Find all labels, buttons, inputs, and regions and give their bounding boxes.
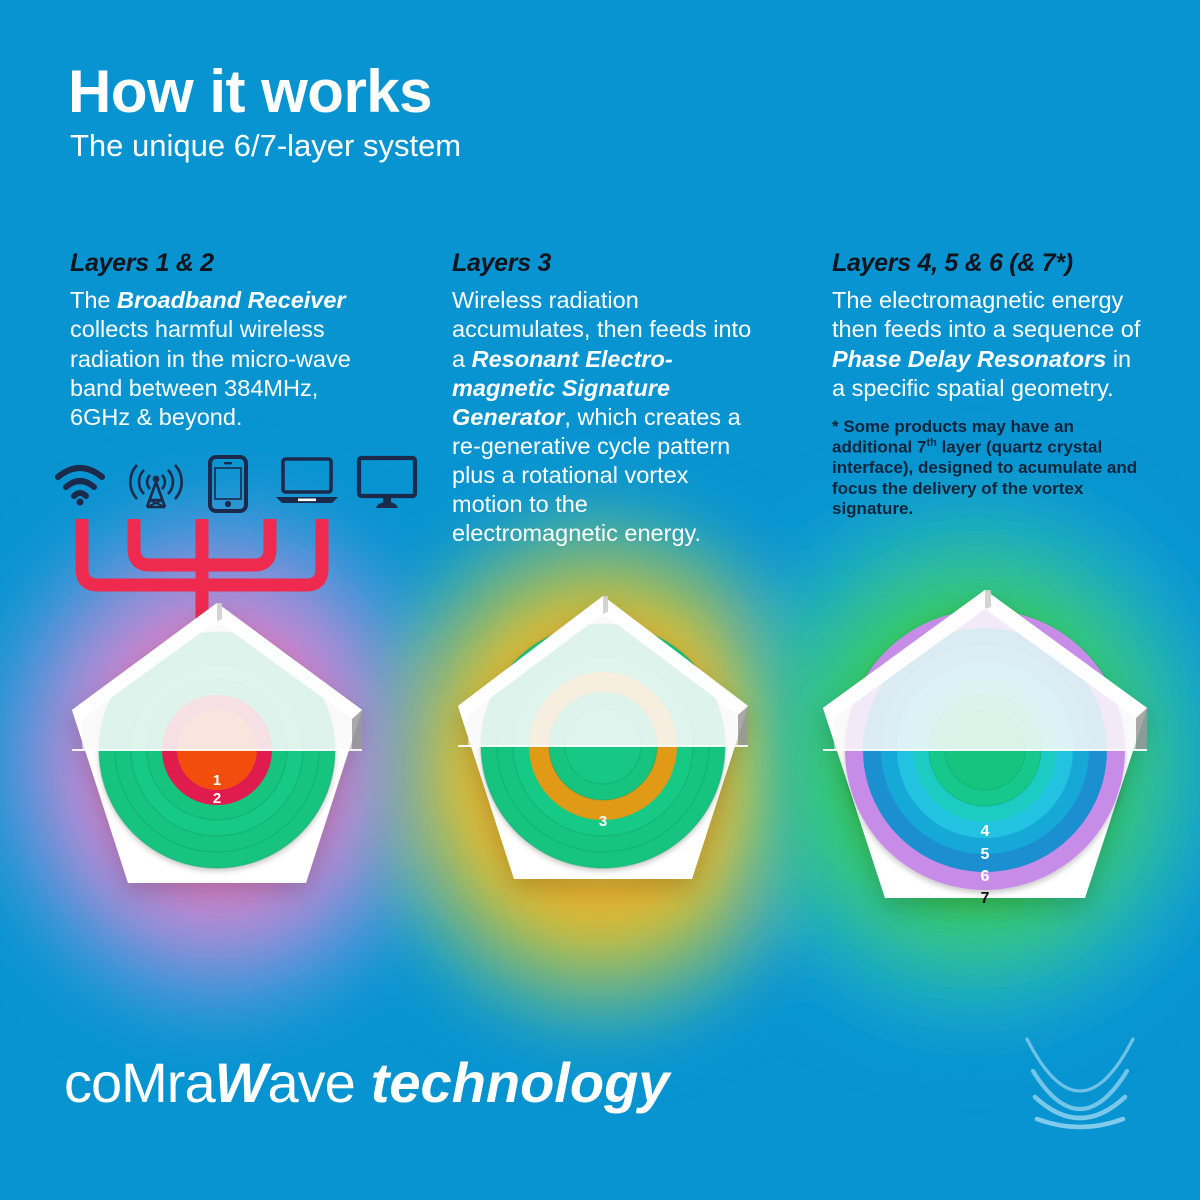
brand-ave: ave [267, 1051, 354, 1114]
radio-tower-icon [128, 455, 184, 511]
brand-technology: technology [371, 1051, 670, 1114]
column-layers-1-2: Layers 1 & 2 The Broadband Receiver coll… [70, 250, 380, 432]
page-subtitle: The unique 6/7-layer system [70, 130, 461, 161]
layer-number-1: 1 [213, 772, 221, 789]
layer-number-7: 7 [981, 890, 990, 907]
column-1-heading: Layers 1 & 2 [70, 250, 380, 276]
column-layer-3: Layers 3 Wireless radiation accumulates,… [452, 250, 752, 548]
disc-layers-1-2: 1 2 [42, 595, 392, 945]
layer-number-2: 2 [213, 790, 221, 807]
monitor-icon [356, 455, 418, 511]
column-3-footnote: * Some products may have an additional 7… [832, 417, 1142, 520]
c3-t1: Phase Delay Resonators [832, 346, 1106, 372]
column-2-heading: Layers 3 [452, 250, 752, 276]
disc-layers-4-7: 4 5 6 7 [800, 578, 1170, 958]
layer-number-4: 4 [981, 823, 990, 840]
smartphone-icon [208, 455, 248, 513]
layer-number-5: 5 [981, 846, 990, 863]
layer-number-6: 6 [981, 868, 990, 885]
brand-comra: coMra [64, 1051, 215, 1114]
infographic-canvas: How it works The unique 6/7-layer system… [0, 0, 1200, 1200]
c1-t0: The [70, 287, 117, 313]
brand-w: W [215, 1051, 268, 1114]
c1-t2: collects harmful wireless radiation in t… [70, 316, 351, 429]
column-3-body: The electromagnetic energy then feeds in… [832, 286, 1142, 403]
page-title: How it works [68, 62, 432, 122]
comra-wave-mark [1005, 1035, 1155, 1155]
brand-wordmark: coMraWavetechnology [64, 1055, 669, 1111]
footnote-superscript: th [926, 437, 936, 449]
disc-layer-3: 3 [428, 588, 778, 938]
wifi-icon [52, 455, 108, 511]
column-1-body: The Broadband Receiver collects harmful … [70, 286, 380, 432]
column-layers-4-7: Layers 4, 5 & 6 (& 7*) The electromagnet… [832, 250, 1142, 519]
c1-t1: Broadband Receiver [117, 287, 346, 313]
column-3-heading: Layers 4, 5 & 6 (& 7*) [832, 250, 1142, 276]
c3-t0: The electromagnetic energy then feeds in… [832, 287, 1140, 342]
device-icon-row [52, 455, 392, 515]
layer-number-3: 3 [599, 813, 607, 830]
laptop-icon [274, 455, 340, 509]
column-2-body: Wireless radiation accumulates, then fee… [452, 286, 752, 548]
